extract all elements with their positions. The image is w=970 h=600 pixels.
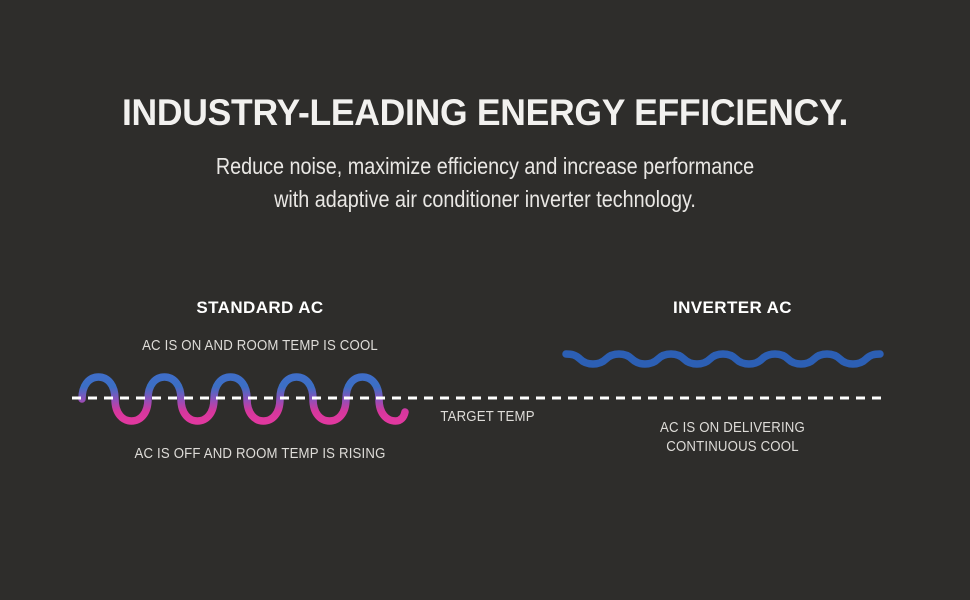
standard-ac-title: STANDARD AC (60, 298, 460, 318)
page-title: INDUSTRY-LEADING ENERGY EFFICIENCY. (19, 94, 950, 131)
target-temp-dashed-line (70, 394, 890, 402)
inverter-caption-line-2: CONTINUOUS COOL (568, 438, 898, 457)
target-temp-label: TARGET TEMP (402, 408, 574, 427)
page-subtitle: Reduce noise, maximize efficiency and in… (68, 150, 902, 215)
standard-ac-caption-bottom: AC IS OFF AND ROOM TEMP IS RISING (75, 445, 445, 464)
inverter-caption-line-1: AC IS ON DELIVERING (568, 419, 898, 438)
inverter-ac-waveform (558, 340, 894, 376)
energy-efficiency-banner: INDUSTRY-LEADING ENERGY EFFICIENCY. Redu… (0, 0, 970, 600)
inverter-ac-caption: AC IS ON DELIVERING CONTINUOUS COOL (568, 419, 898, 457)
subtitle-line-1: Reduce noise, maximize efficiency and in… (68, 150, 902, 183)
standard-ac-caption-top: AC IS ON AND ROOM TEMP IS COOL (75, 337, 445, 356)
subtitle-line-2: with adaptive air conditioner inverter t… (68, 183, 902, 216)
inverter-ac-title: INVERTER AC (545, 298, 920, 318)
